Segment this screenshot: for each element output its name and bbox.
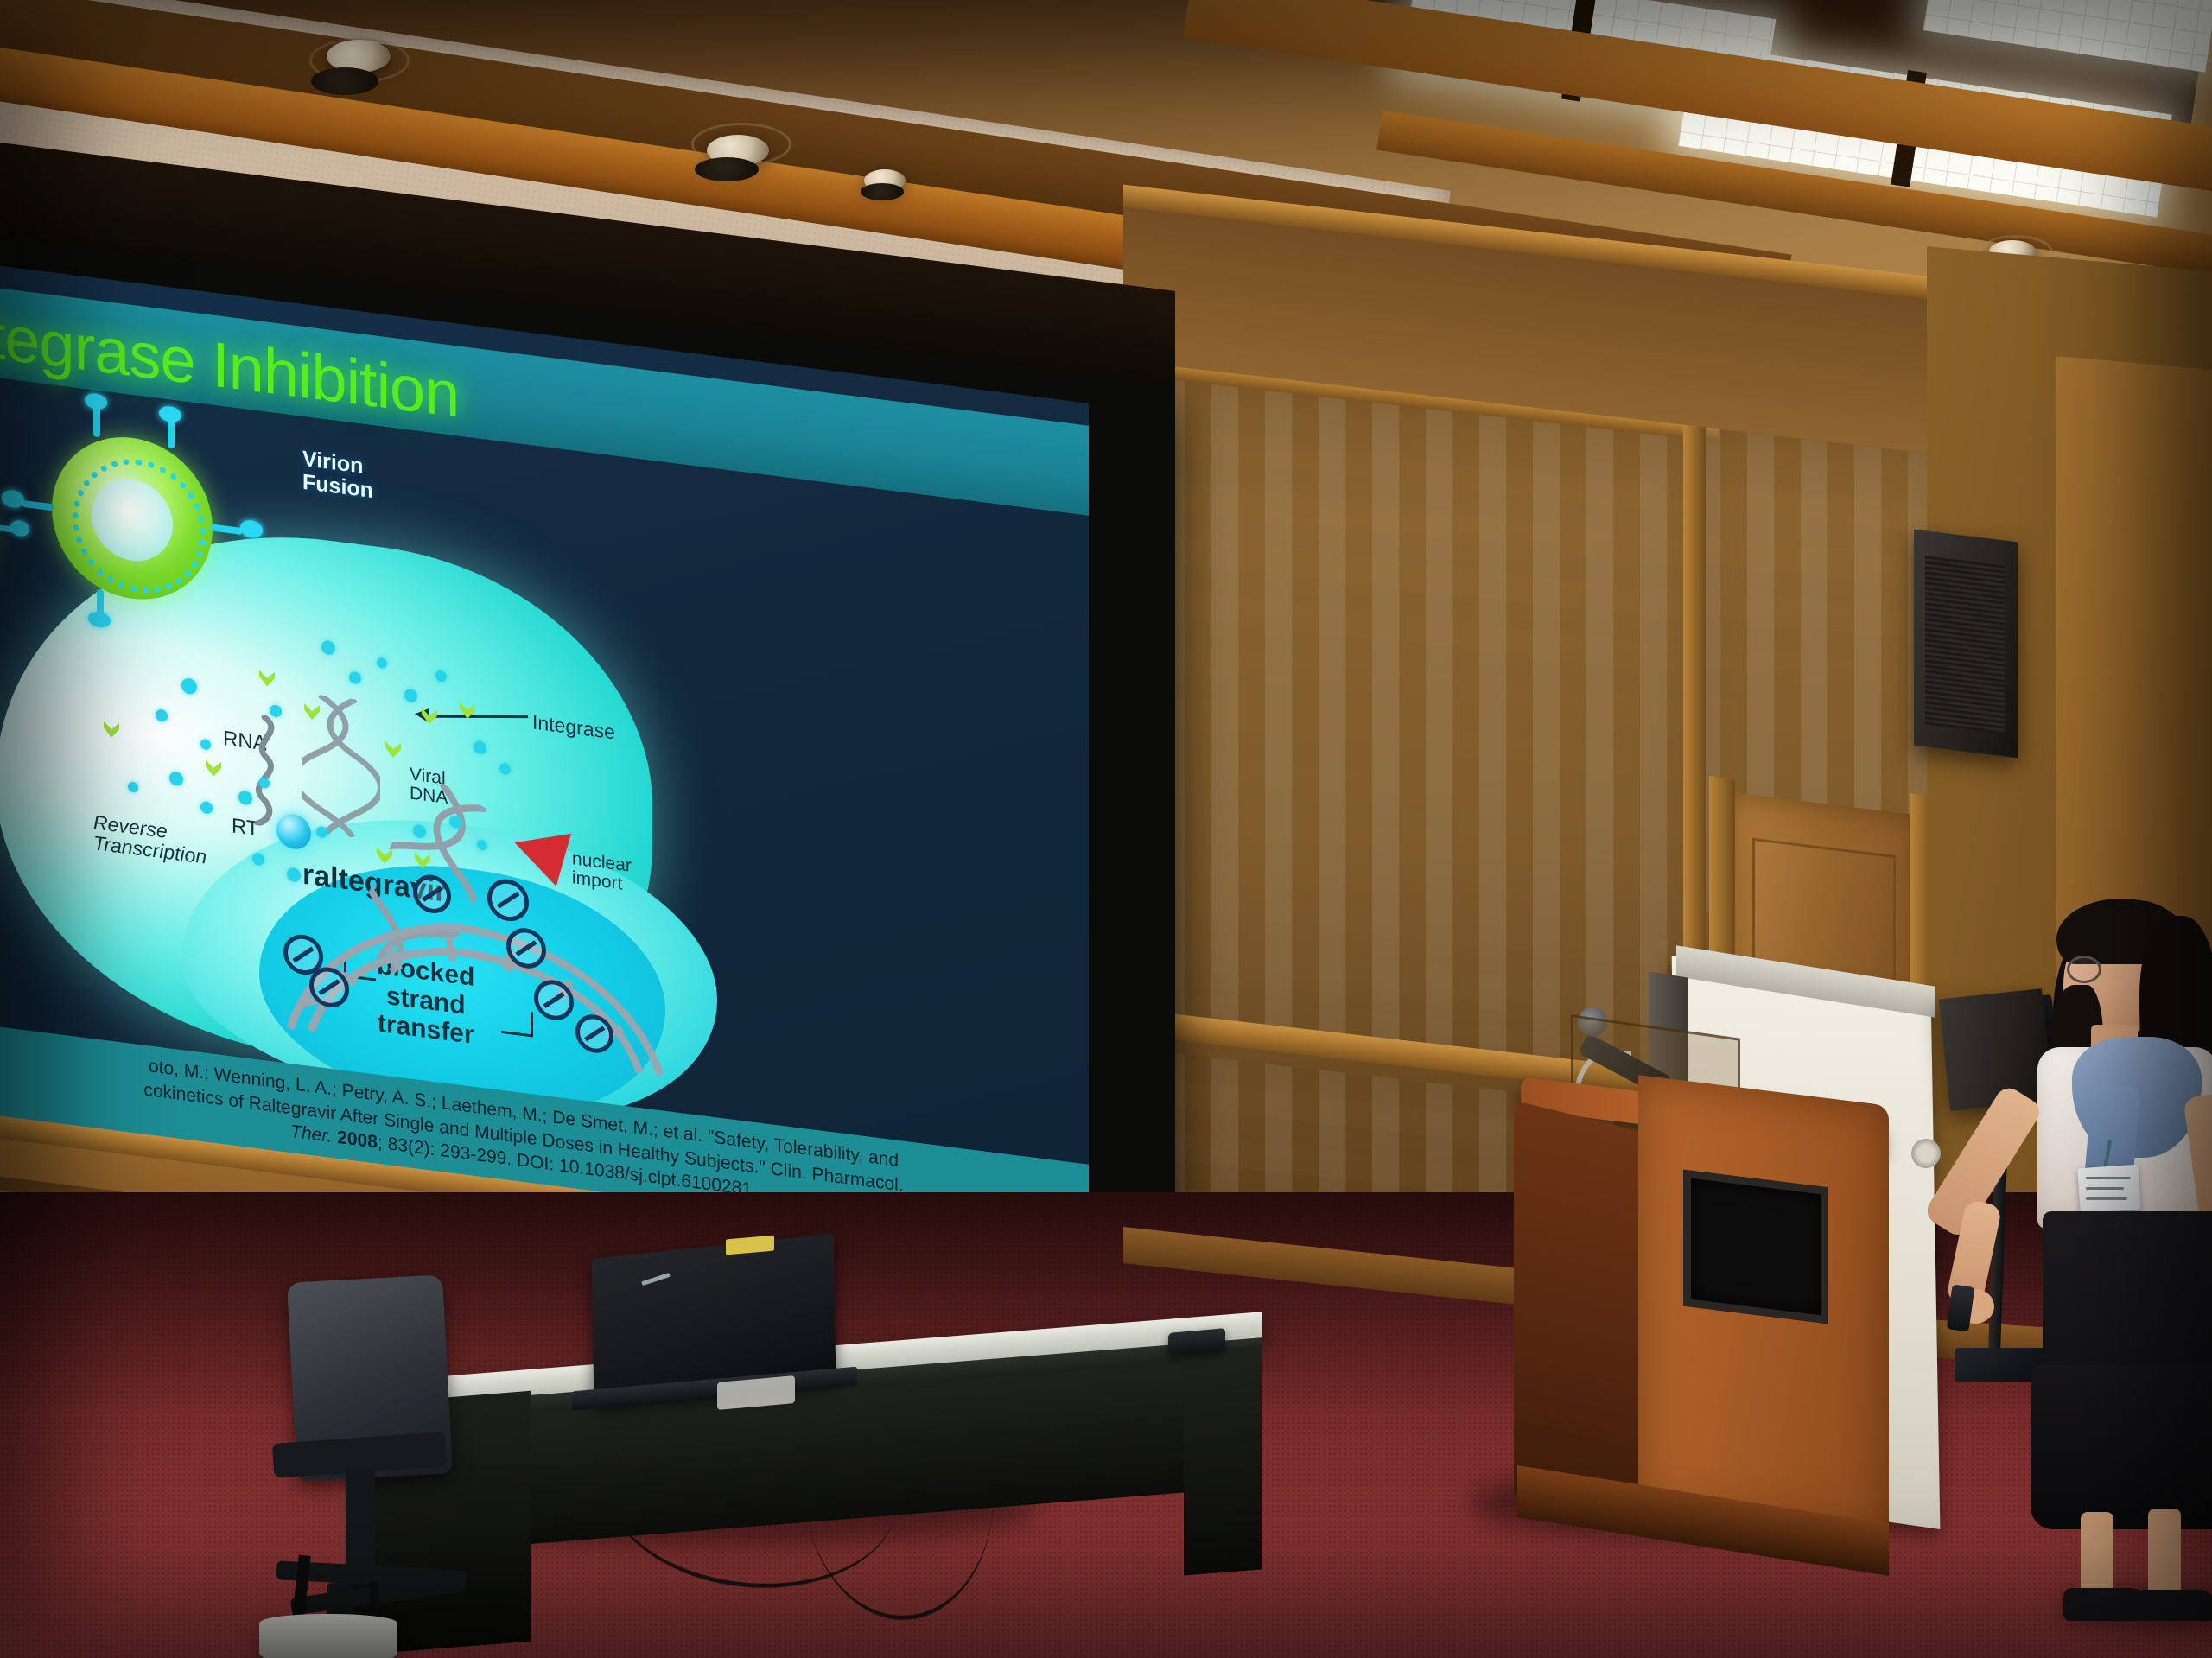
speaker-grille	[1925, 555, 2005, 734]
label-nuclear-import: nuclear import	[572, 849, 632, 895]
podium-display-inset	[1683, 1170, 1828, 1324]
glasses-icon	[2067, 956, 2101, 983]
table-leg-right	[1184, 1344, 1262, 1575]
trash-can	[259, 1614, 397, 1658]
presenter-leg-left	[2081, 1512, 2113, 1595]
photo-scene: Integrase Inhibition	[0, 0, 2212, 1658]
badge-line-3	[2086, 1197, 2127, 1200]
wall-fabric-panel-1	[1158, 373, 1702, 1092]
presenter-leg-right	[2148, 1509, 2181, 1595]
label-virion-fusion: Virion Fusion	[302, 448, 373, 502]
flipchart-grommet	[1911, 1139, 1941, 1168]
presenter-skirt-hem	[2031, 1365, 2212, 1529]
can-light-recess-1	[311, 67, 378, 95]
slide-figure: Virion Fusion Integrase RNA Viral DNA RT…	[0, 382, 890, 1129]
rna-strand	[232, 709, 292, 829]
podium-side-panel	[1514, 1100, 1643, 1529]
can-light-recess-2	[695, 157, 759, 181]
presenter-held-remote[interactable]	[1947, 1284, 1975, 1331]
citation-year: 2008	[337, 1128, 378, 1153]
presenter	[1970, 881, 2212, 1624]
badge-line-2	[2086, 1187, 2124, 1190]
can-light-recess-3	[861, 183, 904, 200]
integrase-arrow-line	[425, 715, 528, 718]
citation-journal: Ther.	[290, 1121, 332, 1147]
presenter-shoe-right	[2136, 1590, 2212, 1621]
presenter-shoe-left	[2063, 1588, 2146, 1621]
badge-line-1	[2086, 1177, 2131, 1179]
